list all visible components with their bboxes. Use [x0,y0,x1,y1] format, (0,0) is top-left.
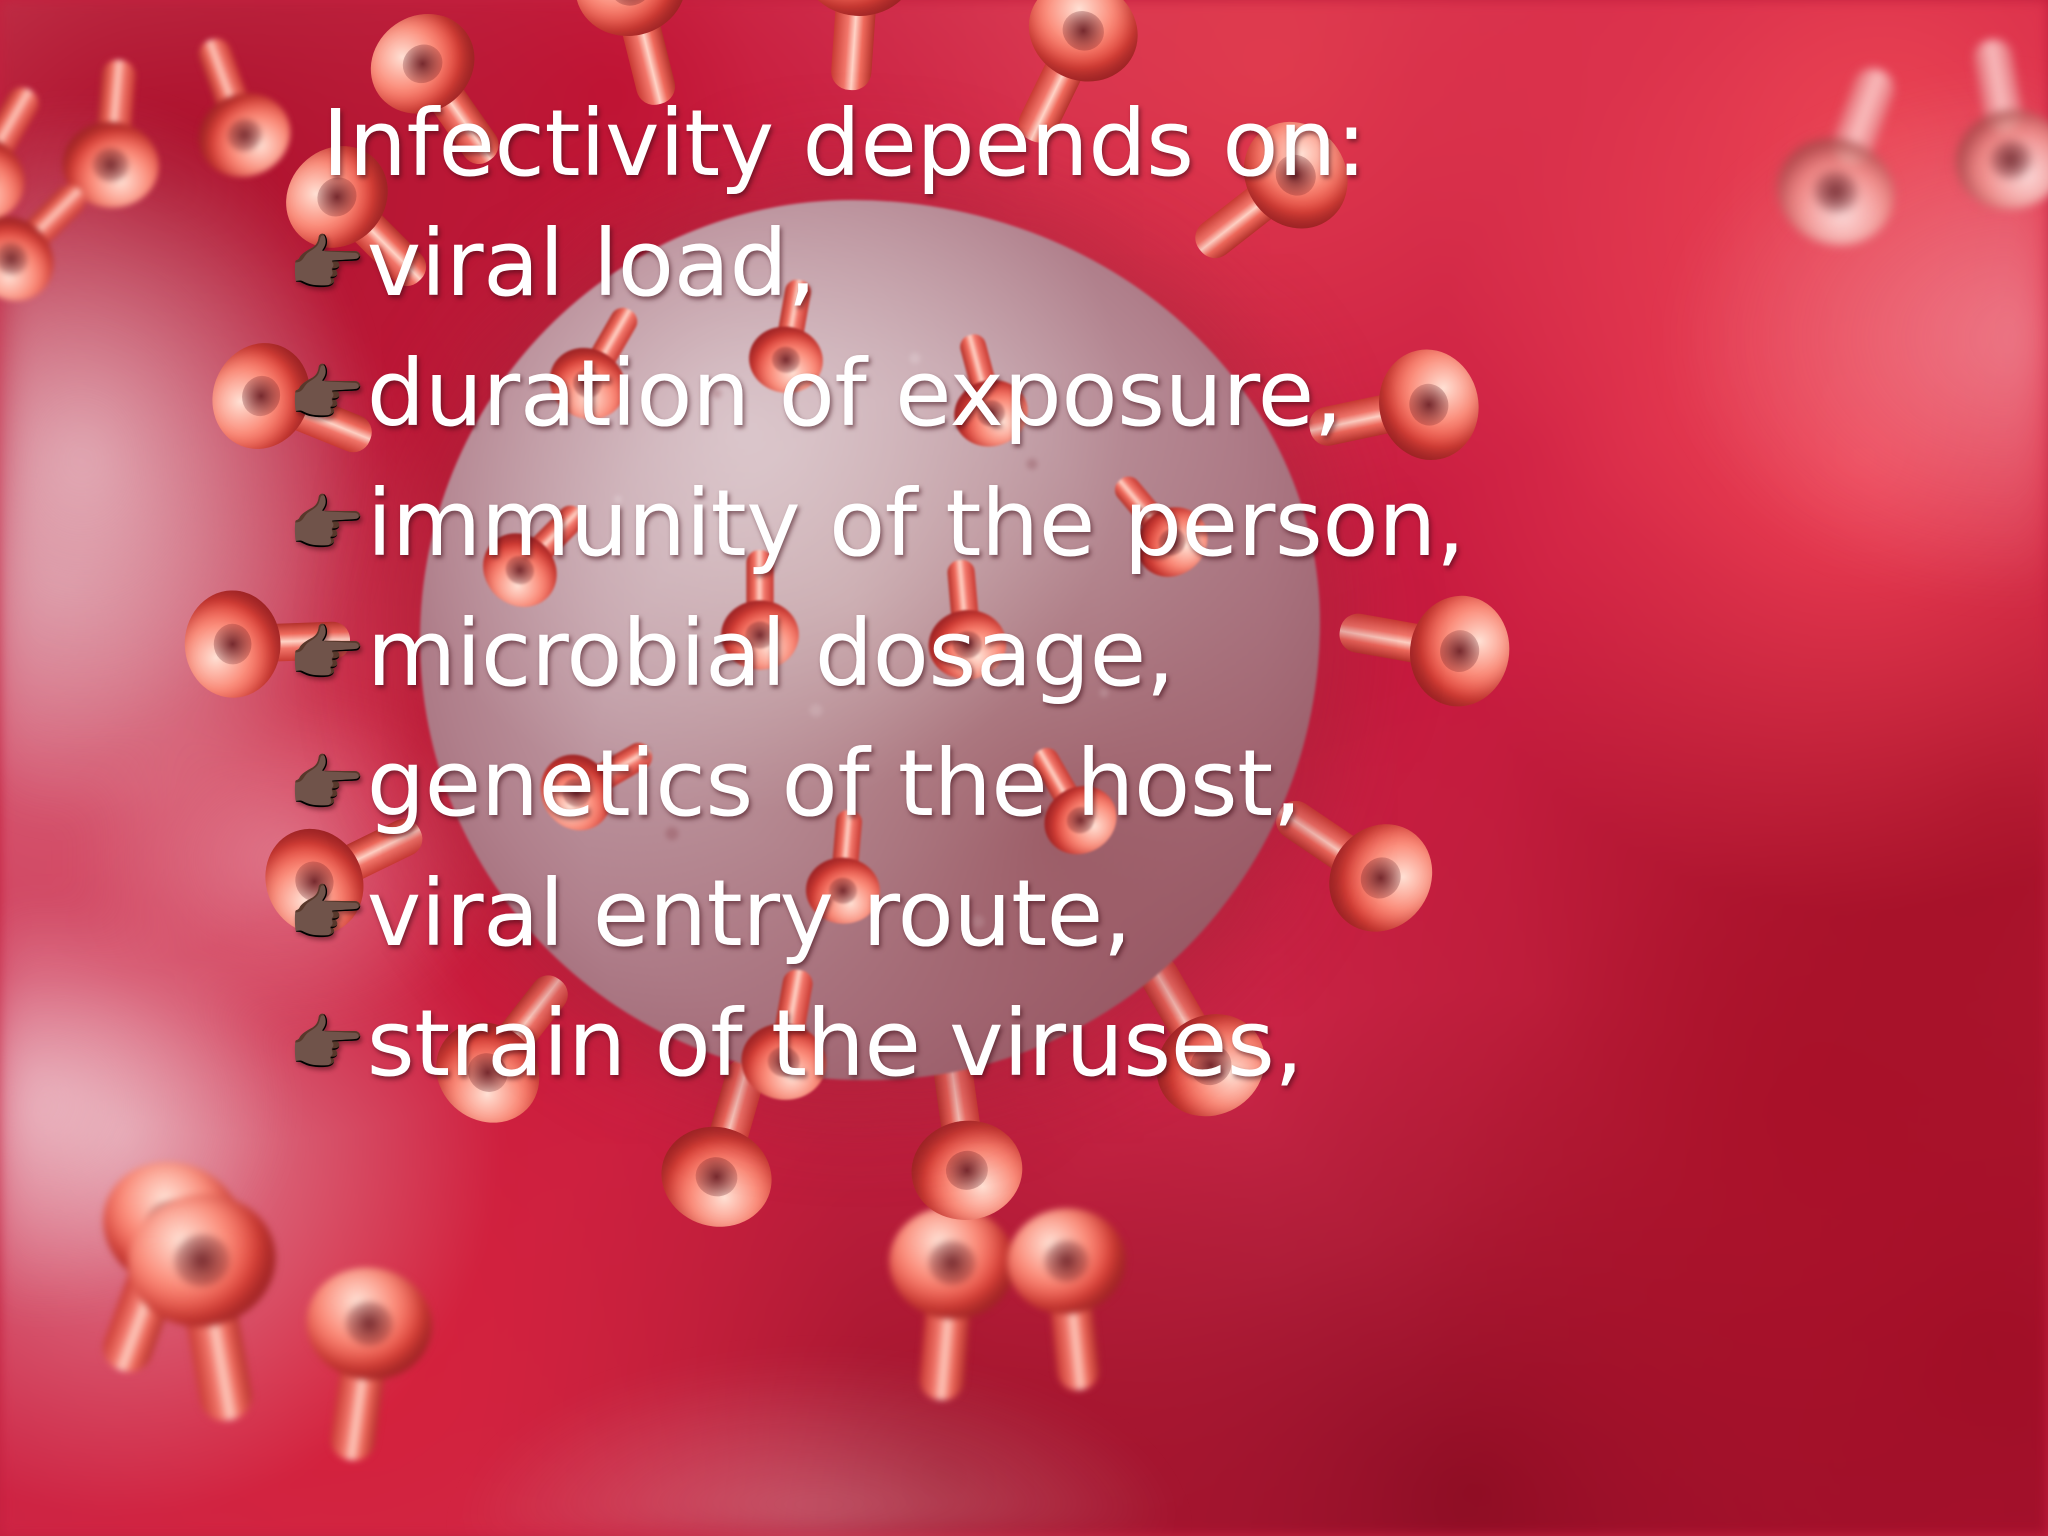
pointing-right-hand-icon: 👉🏿 [288,493,365,555]
slide-text-block: Infectivity depends on: 👉🏿 viral load, 👉… [0,0,2048,1536]
presentation-slide: Infectivity depends on: 👉🏿 viral load, 👉… [0,0,2048,1536]
bullet-item-1-label: viral load, [367,218,816,310]
bullet-item-3: 👉🏿 immunity of the person, [288,478,1465,570]
pointing-right-hand-icon: 👉🏿 [288,363,365,425]
bullet-item-2-label: duration of exposure, [367,348,1343,440]
slide-title: Infectivity depends on: [322,98,1366,190]
slide-title-text: Infectivity depends on: [322,98,1366,190]
bullet-item-7: 👉🏿 strain of the viruses, [288,998,1303,1090]
bullet-item-2: 👉🏿 duration of exposure, [288,348,1343,440]
bullet-item-6-label: viral entry route, [367,868,1132,960]
bullet-item-6: 👉🏿 viral entry route, [288,868,1132,960]
pointing-right-hand-icon: 👉🏿 [288,623,365,685]
pointing-right-hand-icon: 👉🏿 [288,753,365,815]
pointing-right-hand-icon: 👉🏿 [288,233,365,295]
bullet-item-1: 👉🏿 viral load, [288,218,816,310]
bullet-item-5-label: genetics of the host, [367,738,1302,830]
bullet-item-5: 👉🏿 genetics of the host, [288,738,1302,830]
bullet-item-4-label: microbial dosage, [367,608,1175,700]
pointing-right-hand-icon: 👉🏿 [288,1013,365,1075]
bullet-item-7-label: strain of the viruses, [367,998,1303,1090]
bullet-item-4: 👉🏿 microbial dosage, [288,608,1174,700]
pointing-right-hand-icon: 👉🏿 [288,883,365,945]
bullet-item-3-label: immunity of the person, [367,478,1465,570]
